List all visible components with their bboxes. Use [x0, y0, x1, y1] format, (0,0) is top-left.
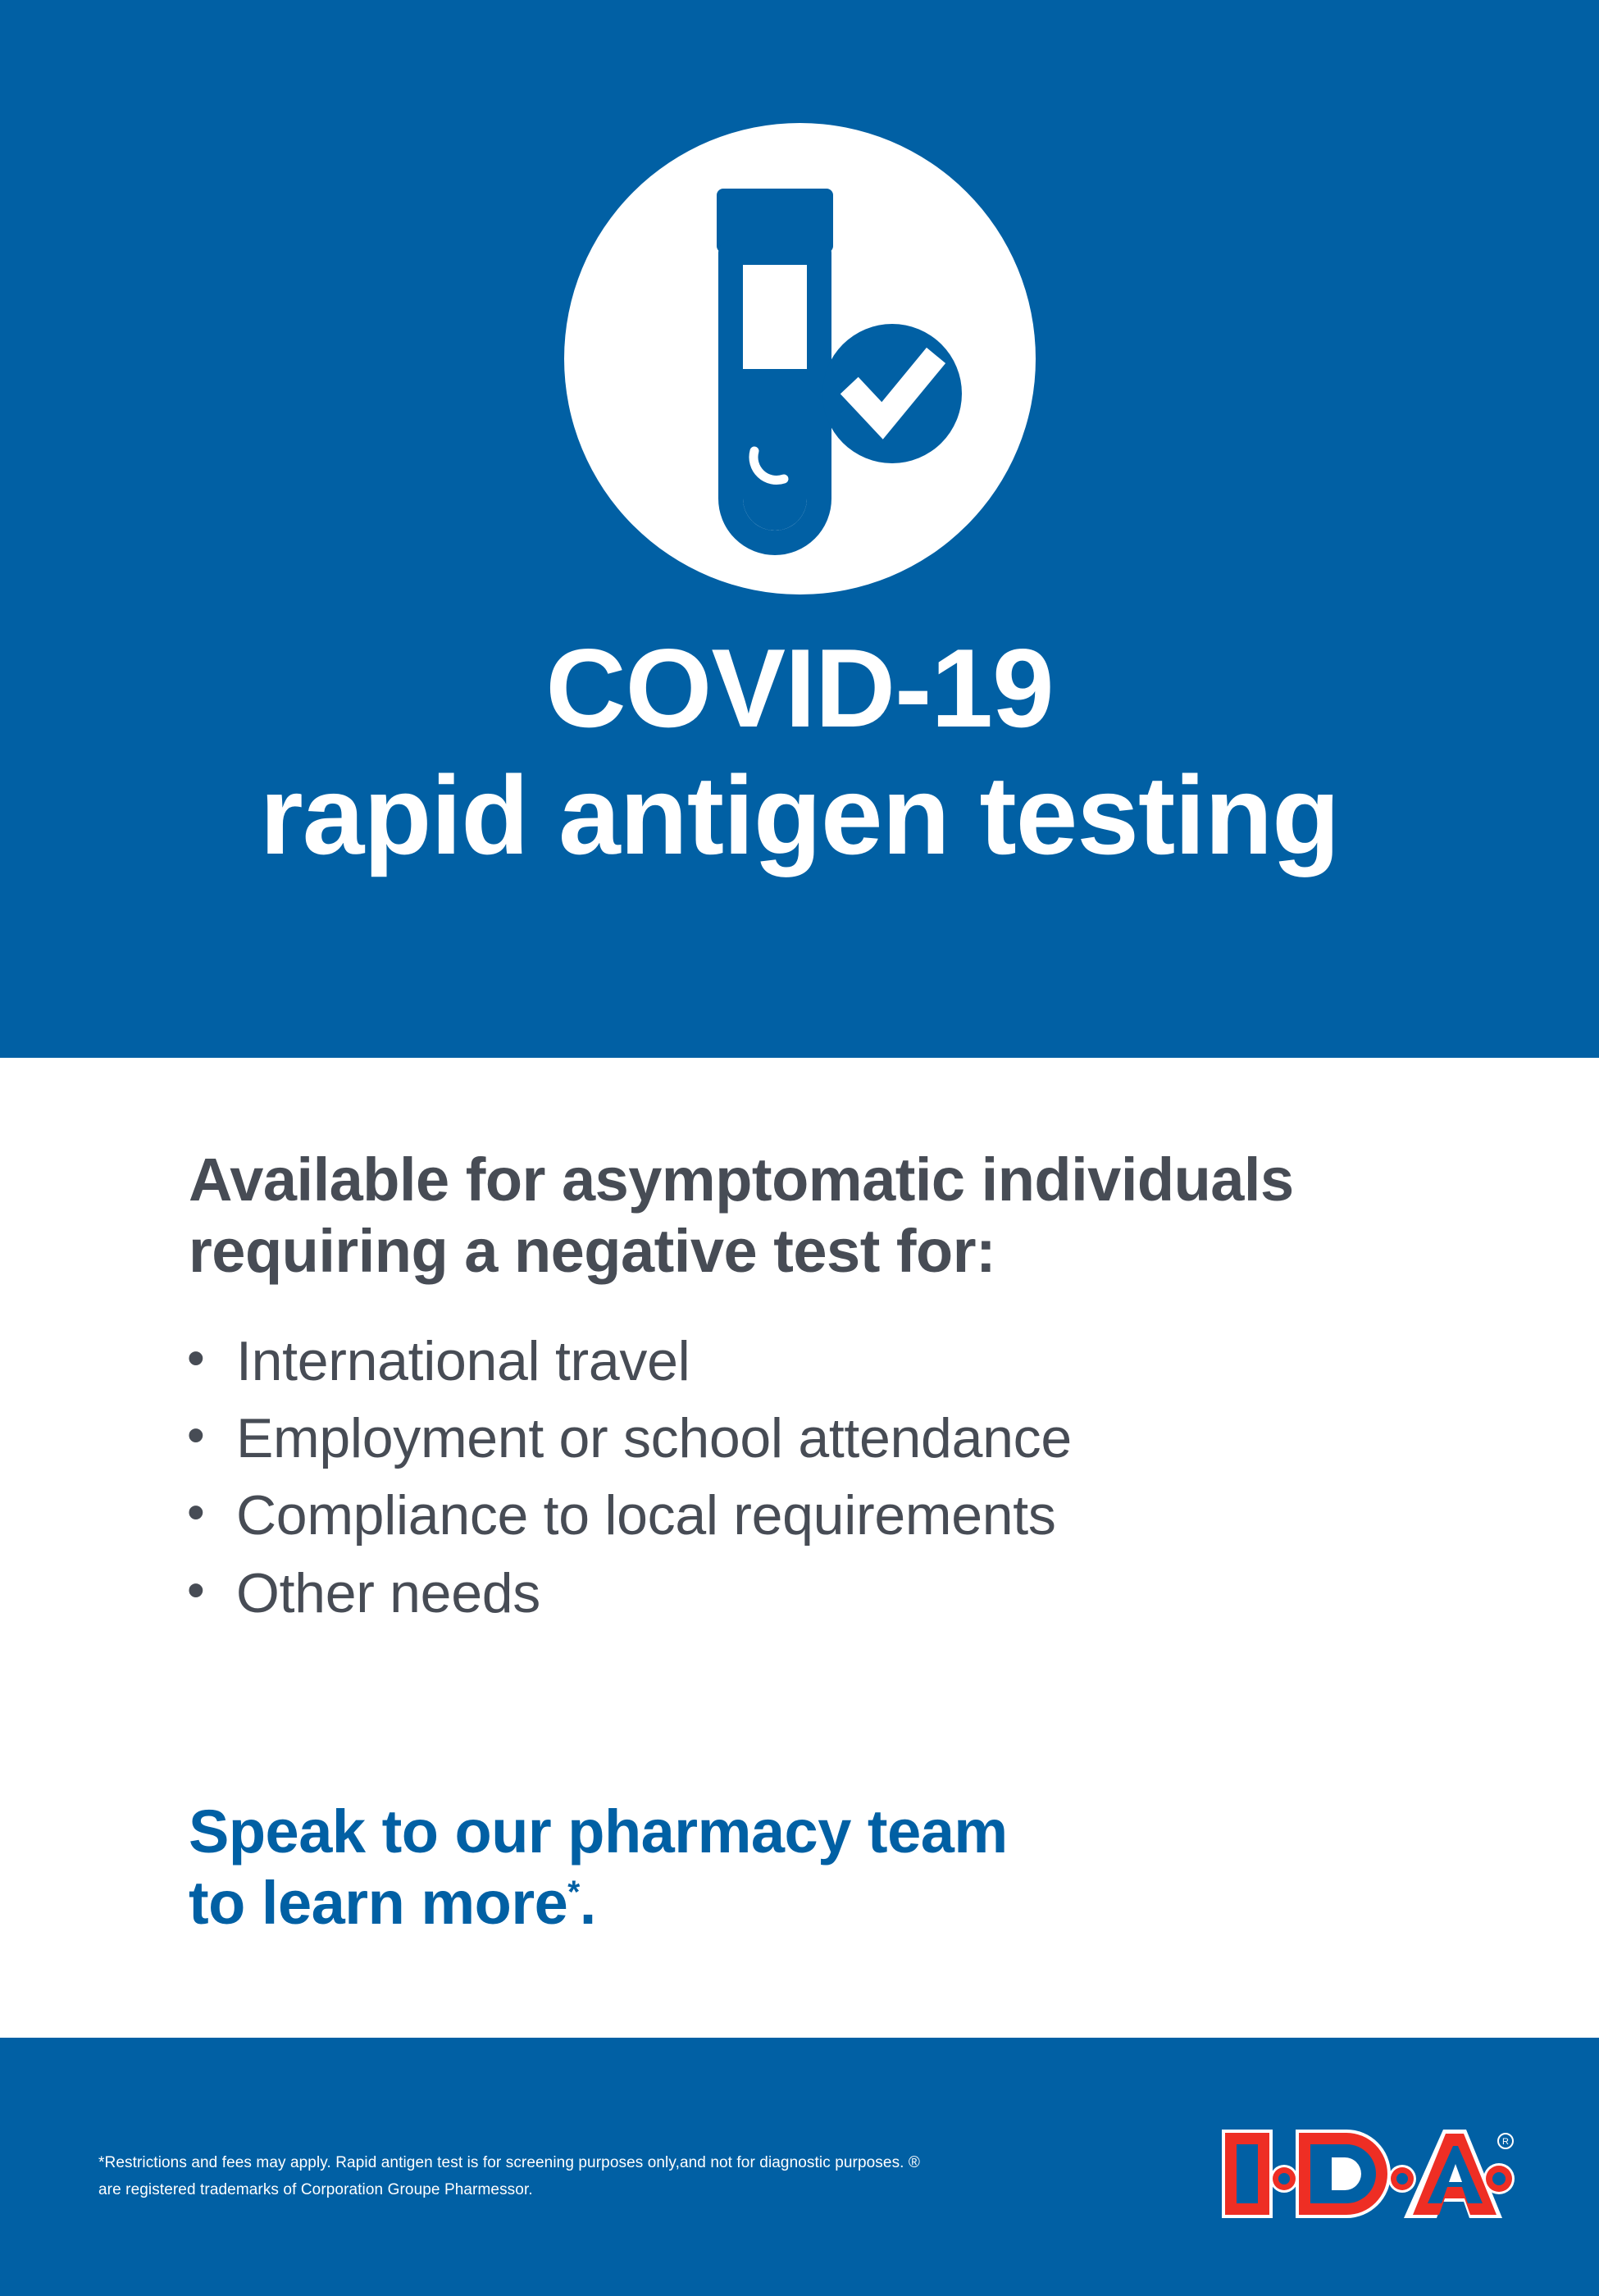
cta-line-1: Speak to our pharmacy team — [189, 1797, 1008, 1865]
cta-asterisk: * — [567, 1875, 579, 1911]
list-item: • International travel — [187, 1328, 1499, 1394]
test-tube-check-icon — [564, 123, 1036, 594]
list-item-label: Employment or school attendance — [236, 1405, 1499, 1471]
list-item-label: Compliance to local requirements — [236, 1483, 1499, 1548]
header-section: COVID-19 rapid antigen testing — [0, 0, 1599, 1058]
list-item: • Employment or school attendance — [187, 1405, 1499, 1471]
registered-mark-icon: R — [1498, 2134, 1513, 2148]
poster-root: COVID-19 rapid antigen testing Available… — [0, 0, 1599, 2296]
title-line-1: COVID-19 — [0, 631, 1599, 745]
cta-period: . — [580, 1869, 596, 1937]
bullet-dot-icon: • — [187, 1483, 236, 1542]
bullet-dot-icon: • — [187, 1328, 236, 1388]
list-item-label: Other needs — [236, 1560, 1499, 1626]
call-to-action: Speak to our pharmacy team to learn more… — [189, 1796, 1419, 1939]
poster-title: COVID-19 rapid antigen testing — [0, 631, 1599, 872]
cta-line-2: to learn more — [189, 1869, 567, 1937]
svg-text:R: R — [1502, 2137, 1509, 2147]
list-item: • Other needs — [187, 1560, 1499, 1626]
bullet-dot-icon: • — [187, 1560, 236, 1620]
body-section: Available for asymptomatic individuals r… — [0, 1058, 1599, 2038]
lead-paragraph: Available for asymptomatic individuals r… — [189, 1144, 1468, 1287]
list-item: • Compliance to local requirements — [187, 1483, 1499, 1548]
eligibility-list: • International travel • Employment or s… — [187, 1328, 1499, 1638]
title-line-2: rapid antigen testing — [0, 758, 1599, 872]
footer-disclaimer: *Restrictions and fees may apply. Rapid … — [98, 2149, 927, 2204]
ida-logo: R — [1217, 2121, 1520, 2226]
list-item-label: International travel — [236, 1328, 1499, 1394]
bullet-dot-icon: • — [187, 1405, 236, 1465]
